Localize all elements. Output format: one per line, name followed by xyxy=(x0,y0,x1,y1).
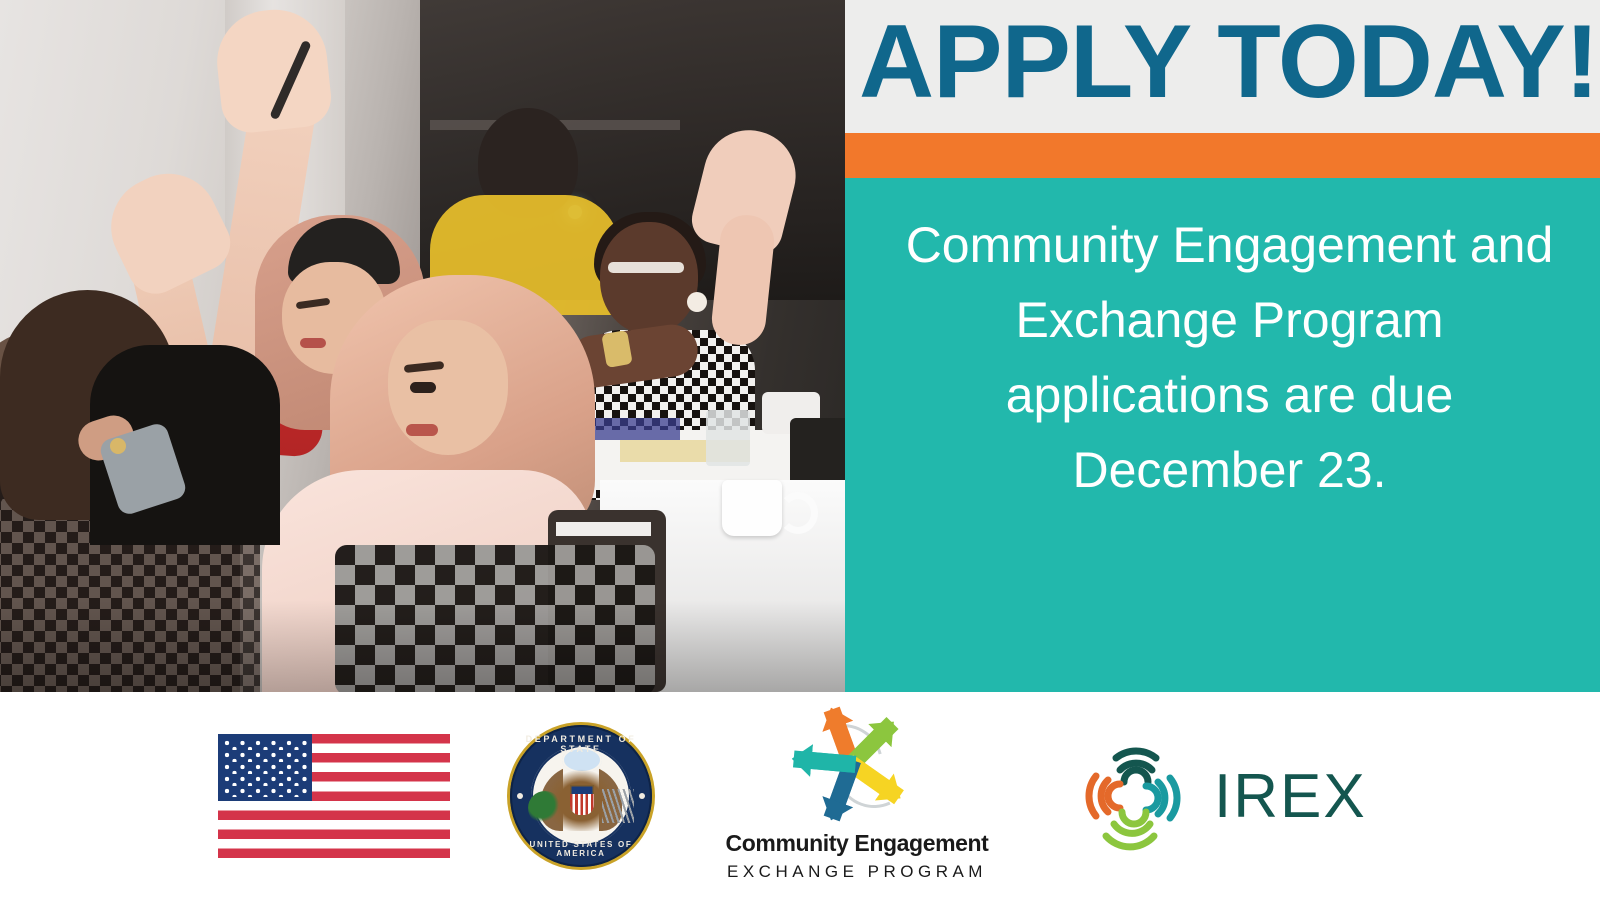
photo-person-glasses xyxy=(608,262,684,273)
seal-olive-branch xyxy=(528,791,562,825)
promotional-poster: APPLY TODAY! Community Engagement and Ex… xyxy=(0,0,1600,900)
photo-coffee-mug xyxy=(722,480,782,536)
photo-foreground-ring xyxy=(110,438,126,454)
workshop-photo xyxy=(0,0,845,692)
photo-woman-b-eye xyxy=(410,382,436,393)
cee-program-logo: Community Engagement EXCHANGE PROGRAM xyxy=(712,710,1002,882)
cee-logo-line1: Community Engagement xyxy=(726,830,989,857)
us-flag-icon xyxy=(218,734,450,858)
seal-right-star xyxy=(639,793,645,799)
photo-woman-b-face xyxy=(388,320,508,455)
photo-bottom-shadow xyxy=(0,600,845,692)
photo-laptop xyxy=(790,418,845,486)
seal-top-text: DEPARTMENT OF STATE xyxy=(510,734,652,754)
announcement-text: Community Engagement and Exchange Progra… xyxy=(885,208,1574,508)
seal-shield-stripes xyxy=(570,794,594,815)
photo-woman-b-lips xyxy=(406,424,438,436)
pinwheel-icon xyxy=(797,710,917,822)
announcement-panel: Community Engagement and Exchange Progra… xyxy=(845,178,1600,692)
page-title: APPLY TODAY! xyxy=(859,0,1590,128)
irex-logo: IREX xyxy=(1062,721,1382,871)
photo-gold-watch xyxy=(601,330,633,368)
photo-woman-a-lips xyxy=(300,338,326,348)
irex-mark-icon xyxy=(1062,726,1202,866)
cee-logo-line2: EXCHANGE PROGRAM xyxy=(727,862,987,882)
seal-left-star xyxy=(517,793,523,799)
seal-bottom-text: UNITED STATES OF AMERICA xyxy=(510,840,652,858)
seal-arrows xyxy=(602,789,634,823)
accent-stripe xyxy=(845,133,1600,178)
photo-person-pearl-earring xyxy=(687,292,707,312)
logo-row: DEPARTMENT OF STATE UNITED STATES OF AME… xyxy=(0,692,1600,900)
photo-water-glass xyxy=(706,410,750,466)
photo-person-glasses-head xyxy=(600,222,698,334)
department-of-state-seal-icon: DEPARTMENT OF STATE UNITED STATES OF AME… xyxy=(510,725,652,867)
photo-coffee-mug-handle xyxy=(778,492,818,534)
logo-footer: DEPARTMENT OF STATE UNITED STATES OF AME… xyxy=(0,692,1600,900)
irex-arcs xyxy=(1062,726,1202,866)
header-bar: APPLY TODAY! xyxy=(845,0,1600,133)
irex-wordmark: IREX xyxy=(1214,761,1367,832)
photo-chair-slot xyxy=(556,522,651,536)
flag-stars xyxy=(222,738,308,797)
